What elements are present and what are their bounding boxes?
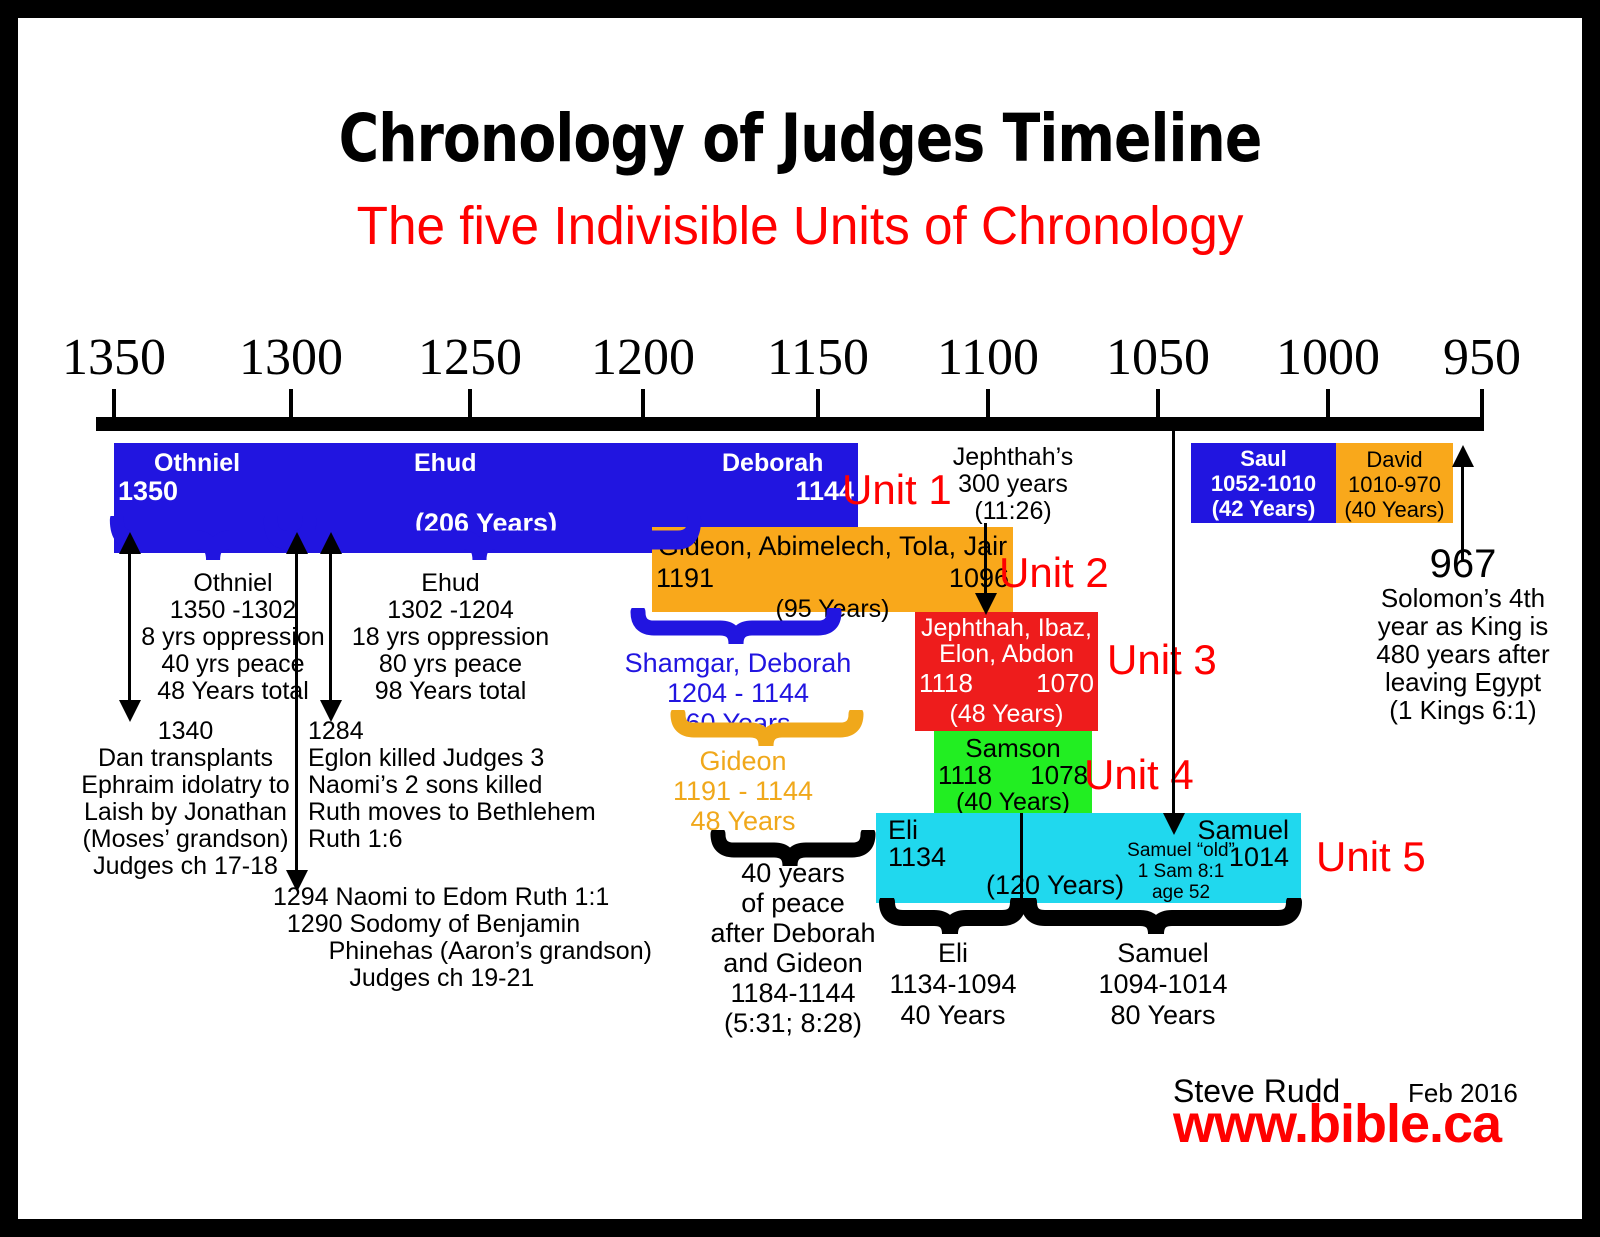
bar-eli-samuel[interactable]: Eli 1134 Samuel 1014 (120 Years) Samuel … <box>876 813 1301 903</box>
axis-tick-label-1200: 1200 <box>591 328 695 387</box>
note-othniel: Othniel 1350 -1302 8 yrs oppression 40 y… <box>108 570 358 705</box>
samuel-old-arrow-head <box>1163 813 1185 835</box>
axis-tick-label-1250: 1250 <box>418 328 522 387</box>
bar-jephthah-start-year: 1118 <box>919 668 973 699</box>
note-ehud: Ehud 1302 -1204 18 yrs oppression 80 yrs… <box>323 570 578 705</box>
note-jephthah-300-years: Jephthah’s 300 years (11:26) <box>903 444 1123 525</box>
note-naomi-1294: 1294 Naomi to Edom Ruth 1:1 1290 Sodomy … <box>273 884 693 992</box>
axis-tick-950 <box>1480 389 1484 417</box>
axis-tick-1000 <box>1326 389 1330 417</box>
brace-eli <box>878 898 1026 940</box>
axis-tick-1200 <box>641 389 645 417</box>
bar-david[interactable]: David 1010-970 (40 Years) <box>1336 443 1453 523</box>
note-dan-1340: 1340 Dan transplants Ephraim idolatry to… <box>73 718 298 880</box>
bar-judges-start-year: 1350 <box>118 476 178 507</box>
brace-samuel <box>1020 898 1302 940</box>
jephthah-arrow-head <box>975 593 997 615</box>
note-peace-40: 40 years of peace after Deborah and Gide… <box>678 858 908 1038</box>
bar-jephthah-end-year: 1070 <box>1036 668 1094 699</box>
solomon-arrow-head <box>1452 445 1474 467</box>
bar-jephthah-group[interactable]: Jephthah, Ibaz, Elon, Abdon 1118 1070 (4… <box>915 612 1098 731</box>
eli-samuel-divider <box>1020 813 1023 903</box>
unit-5-label: Unit 5 <box>1316 833 1426 881</box>
bar-david-duration: (40 Years) <box>1336 497 1453 522</box>
axis-tick-label-1050: 1050 <box>1106 328 1210 387</box>
axis-tick-1100 <box>986 389 990 417</box>
bar-jephthah-names-2: Elon, Abdon <box>915 640 1098 669</box>
bar-samuel-old-note: Samuel “old” 1 Sam 8:1 age 52 <box>1106 840 1256 903</box>
axis-tick-label-1300: 1300 <box>239 328 343 387</box>
othniel-arrow-up-head <box>119 532 141 554</box>
ehud-arrow-up-head <box>320 532 342 554</box>
page-title: Chronology of Judges Timeline <box>73 100 1528 177</box>
bar-samson-start-year: 1118 <box>938 760 992 791</box>
axis-tick-label-1100: 1100 <box>937 328 1039 387</box>
unit-4-label: Unit 4 <box>1084 751 1194 799</box>
bar-david-name: David <box>1336 447 1453 472</box>
naomi-arrow-up-head <box>286 532 308 554</box>
axis-tick-1300 <box>289 389 293 417</box>
othniel-arrow-shaft <box>128 552 131 702</box>
page-subtitle: The five Indivisible Units of Chronology <box>57 195 1543 257</box>
unit-3-label: Unit 3 <box>1107 636 1217 684</box>
note-eglon-1284: 1284 Eglon killed Judges 3 Naomi’s 2 son… <box>308 718 638 853</box>
note-eli-brace: Eli 1134-1094 40 Years <box>878 938 1028 1031</box>
brace-shamgar-deborah <box>628 608 848 648</box>
axis-tick-1350 <box>112 389 116 417</box>
bar-saul[interactable]: Saul 1052-1010 (42 Years) <box>1191 443 1336 523</box>
brace-gideon <box>668 710 868 750</box>
note-samuel-brace: Samuel 1094-1014 80 Years <box>1038 938 1288 1031</box>
bar-eli-samuel-duration: (120 Years) <box>986 870 1124 901</box>
timeline-axis <box>96 417 1484 431</box>
note-967-year: 967 <box>1378 542 1548 587</box>
axis-tick-1250 <box>468 389 472 417</box>
axis-tick-1050 <box>1156 389 1160 417</box>
samuel-old-arrow-shaft <box>1172 430 1175 820</box>
bar-saul-range: 1052-1010 <box>1191 471 1336 496</box>
bar-david-range: 1010-970 <box>1336 472 1453 497</box>
bar-jephthah-duration: (48 Years) <box>915 700 1098 729</box>
bar-judges-deborah-label: Deborah <box>722 449 823 478</box>
bar-saul-duration: (42 Years) <box>1191 496 1336 521</box>
bar-samson[interactable]: Samson 1118 1078 (40 Years) <box>934 731 1092 818</box>
website-link[interactable]: www.bible.ca <box>1173 1093 1501 1155</box>
ehud-arrow-shaft <box>329 552 332 702</box>
bar-jephthah-names-1: Jephthah, Ibaz, <box>915 614 1098 643</box>
unit-2-label: Unit 2 <box>999 549 1109 597</box>
bar-judges-othniel-label: Othniel <box>154 449 240 478</box>
poster-canvas: Chronology of Judges Timeline The five I… <box>18 18 1582 1219</box>
bar-samson-end-year: 1078 <box>1030 760 1088 791</box>
note-solomon-967: Solomon’s 4th year as King is 480 years … <box>1358 584 1568 724</box>
bar-judges-ehud-label: Ehud <box>414 449 477 478</box>
axis-tick-label-1350: 1350 <box>62 328 166 387</box>
axis-tick-1150 <box>816 389 820 417</box>
axis-tick-label-950: 950 <box>1443 328 1521 387</box>
note-gideon-brace: Gideon 1191 - 1144 48 Years <box>628 746 858 836</box>
axis-tick-label-1150: 1150 <box>767 328 869 387</box>
bar-saul-name: Saul <box>1191 446 1336 471</box>
jephthah-arrow-shaft <box>984 523 987 598</box>
axis-tick-label-1000: 1000 <box>1276 328 1380 387</box>
